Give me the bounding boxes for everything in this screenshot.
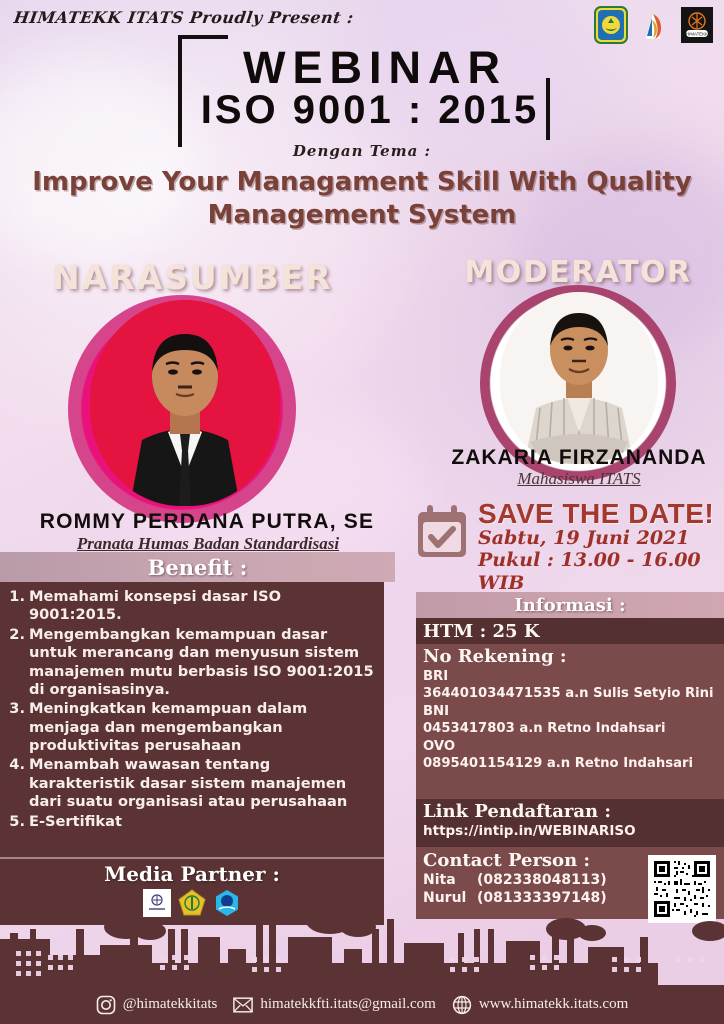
rekening-line: 364401034471535 a.n Sulis Setyio Rini	[423, 685, 718, 702]
htm-bar: HTM : 25 K	[416, 618, 724, 644]
calendar-check-icon	[414, 504, 470, 562]
dengan-tema-label: Dengan Tema :	[0, 142, 724, 160]
narasumber-photo	[90, 300, 280, 506]
link-pendaftaran-title: Link Pendaftaran :	[423, 801, 718, 822]
itats-logo	[594, 6, 628, 44]
footer-website[interactable]: www.himatekk.itats.com	[452, 995, 628, 1015]
rekening-box: No Rekening : BRI 364401034471535 a.n Su…	[416, 644, 724, 799]
institution-logos: HIMATEKK	[594, 6, 714, 44]
benefit-list: 1. Memahami konsepsi dasar ISO 9001:2015…	[4, 588, 374, 831]
rekening-line: BNI	[423, 703, 718, 720]
benefit-header: Benefit :	[0, 552, 395, 582]
rekening-title: No Rekening :	[423, 646, 718, 667]
list-item: 4. Menambah wawasan tentang karakteristi…	[4, 756, 374, 811]
teknik-kimia-logo: HIMATEKK	[680, 6, 714, 44]
rekening-line: OVO	[423, 738, 718, 755]
benefit-item-number: 4.	[4, 756, 25, 811]
contact-phone: (082338048113)	[477, 871, 607, 889]
informasi-title: Informasi :	[514, 595, 625, 616]
link-pendaftaran-box: Link Pendaftaran : https://intip.in/WEBI…	[416, 799, 724, 847]
theme-text: Improve Your Managament Skill With Quali…	[0, 166, 724, 233]
registration-link[interactable]: https://intip.in/WEBINARISO	[423, 823, 718, 839]
narasumber-label: NARASUMBER	[52, 258, 332, 297]
benefit-item-number: 1.	[4, 588, 25, 625]
list-item: 3. Meningkatkan kemampuan dalam menjaga …	[4, 700, 374, 755]
footer-instagram[interactable]: @himatekkitats	[96, 995, 218, 1015]
event-date: Sabtu, 19 Juni 2021	[478, 527, 724, 549]
benefit-item-number: 3.	[4, 700, 25, 755]
benefit-item-text: Menambah wawasan tentang karakteristik d…	[29, 756, 374, 811]
media-partner-title: Media Partner :	[0, 859, 384, 886]
svg-text:HIMATEKK: HIMATEKK	[686, 32, 708, 37]
website-url: www.himatekk.itats.com	[479, 996, 628, 1013]
webinar-poster: HIMATEKK ITATS Proudly Present : HIMATEK…	[0, 0, 724, 1024]
factory-skyline-silhouette	[0, 905, 724, 985]
benefit-item-text: Meningkatkan kemampuan dalam menjaga dan…	[29, 700, 374, 755]
moderator-name: ZAKARIA FIRZANANDA	[434, 446, 724, 470]
rekening-line: 0453417803 a.n Retno Indahsari	[423, 720, 718, 737]
theme-line-1: Improve Your Managament Skill With Quali…	[0, 166, 724, 199]
pii-logo	[637, 6, 671, 44]
moderator-photo	[500, 292, 658, 464]
list-item: 1. Memahami konsepsi dasar ISO 9001:2015…	[4, 588, 374, 625]
benefit-body: 1. Memahami konsepsi dasar ISO 9001:2015…	[0, 582, 384, 857]
proudly-present-text: HIMATEKK ITATS Proudly Present :	[13, 8, 355, 27]
benefit-item-text: Memahami konsepsi dasar ISO 9001:2015.	[29, 588, 374, 625]
benefit-item-text: Mengembangkan kemampuan dasar untuk mera…	[29, 626, 374, 700]
moderator-role: Mahasiswa ITATS	[434, 469, 724, 489]
benefit-title: Benefit :	[148, 555, 248, 580]
theme-line-2: Management System	[0, 199, 724, 232]
informasi-header: Informasi :	[416, 592, 724, 618]
list-item: 2. Mengembangkan kemampuan dasar untuk m…	[4, 626, 374, 700]
narasumber-name: ROMMY PERDANA PUTRA, SE	[12, 510, 402, 534]
rekening-line: 0895401154129 a.n Retno Indahsari	[423, 755, 718, 772]
contact-name: Nita	[423, 871, 477, 889]
save-the-date-title: SAVE THE DATE!	[478, 498, 714, 530]
list-item: 5. E-Sertifikat	[4, 813, 374, 831]
htm-value: HTM : 25 K	[423, 621, 539, 642]
event-time: Pukul : 13.00 - 16.00 WIB	[478, 549, 724, 594]
benefit-item-number: 5.	[4, 813, 25, 831]
benefit-item-number: 2.	[4, 626, 25, 700]
instagram-icon	[96, 995, 116, 1015]
benefit-item-text: E-Sertifikat	[29, 813, 374, 831]
instagram-handle: @himatekkitats	[123, 996, 218, 1013]
rekening-line: BRI	[423, 668, 718, 685]
title-webinar: WEBINAR	[0, 42, 724, 94]
footer-email[interactable]: himatekkfti.itats@gmail.com	[233, 995, 435, 1015]
title-iso: ISO 9001 : 2015	[0, 88, 724, 133]
footer-bar: @himatekkitats himatekkfti.itats@gmail.c…	[0, 985, 724, 1024]
email-address: himatekkfti.itats@gmail.com	[260, 996, 435, 1013]
envelope-icon	[233, 995, 253, 1015]
narasumber-role-line-1: Pranata Humas Badan Standardisasi	[30, 534, 386, 553]
globe-icon	[452, 995, 472, 1015]
